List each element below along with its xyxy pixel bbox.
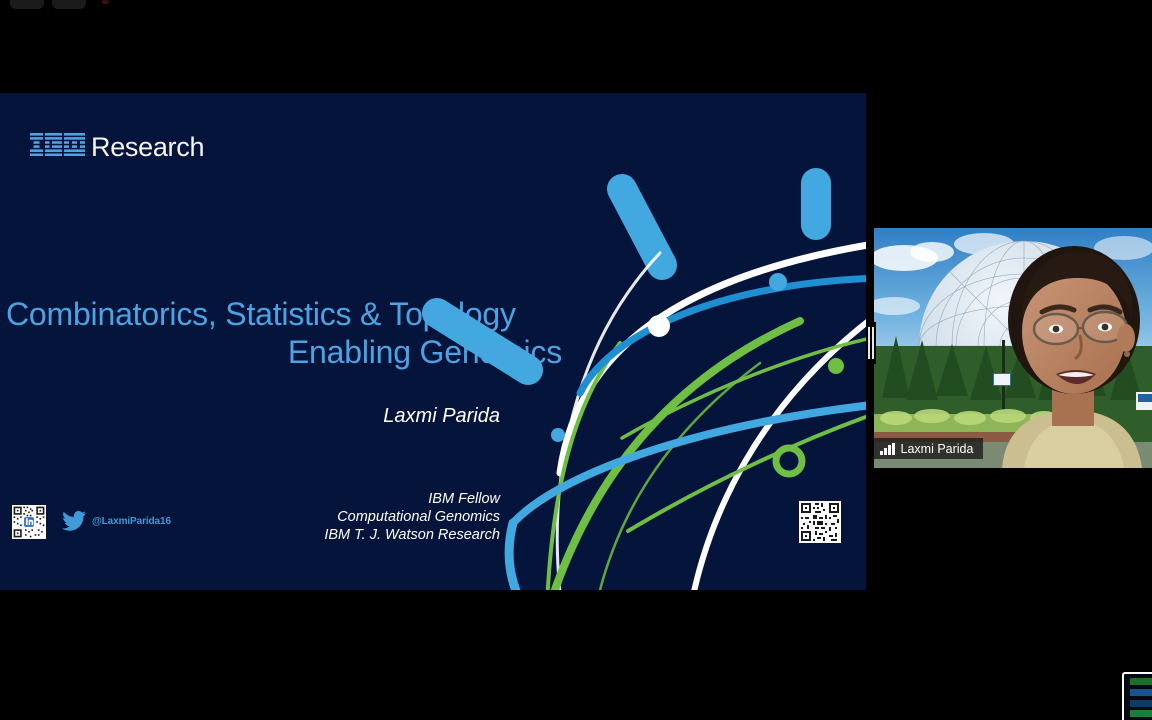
toolbar-record-dot <box>102 0 109 4</box>
twitter-handle-text: @LaxmiParida16 <box>92 516 171 527</box>
affiliation-line-1: IBM Fellow <box>0 490 500 508</box>
thumbnail-strip <box>1130 678 1152 685</box>
participant-name-badge: Laxmi Parida <box>874 438 983 459</box>
audio-level-bars-icon <box>880 443 895 455</box>
ibm-logo-icon <box>30 133 88 156</box>
participant-name-text: Laxmi Parida <box>901 442 974 456</box>
ibm-research-wordmark: Research <box>91 134 204 161</box>
thumbnail-panel[interactable] <box>1122 672 1152 720</box>
thumbnail-strip <box>1130 710 1152 717</box>
thumbnail-strip <box>1130 700 1152 707</box>
profile-qr-code-icon[interactable] <box>799 501 841 543</box>
slide-title-line-1: Combinatorics, Statistics & Topology <box>0 296 568 334</box>
twitter-icon <box>62 511 86 531</box>
screen-root: Research Combinatorics, Statistics & Top… <box>0 0 1152 720</box>
twitter-handle-group[interactable]: @LaxmiParida16 <box>62 511 171 531</box>
ibm-research-logo: Research <box>30 133 204 161</box>
toolbar-chip-right[interactable] <box>52 0 86 9</box>
slide-author-name: Laxmi Parida <box>0 405 500 428</box>
thumbnail-strip <box>1130 689 1152 696</box>
video-frame-image <box>874 228 1152 468</box>
handle-bar <box>872 327 874 359</box>
slide-title-line-2: Enabling Genomics <box>0 334 568 372</box>
linkedin-qr-code-icon[interactable] <box>12 505 46 539</box>
slide-title-block: Combinatorics, Statistics & Topology Ena… <box>0 296 568 372</box>
toolbar-chip-left[interactable] <box>10 0 44 9</box>
presentation-slide[interactable]: Research Combinatorics, Statistics & Top… <box>0 93 866 590</box>
participant-video-tile[interactable]: Laxmi Parida <box>874 228 1152 468</box>
handle-bar <box>868 327 870 359</box>
resize-handle[interactable] <box>866 322 876 364</box>
